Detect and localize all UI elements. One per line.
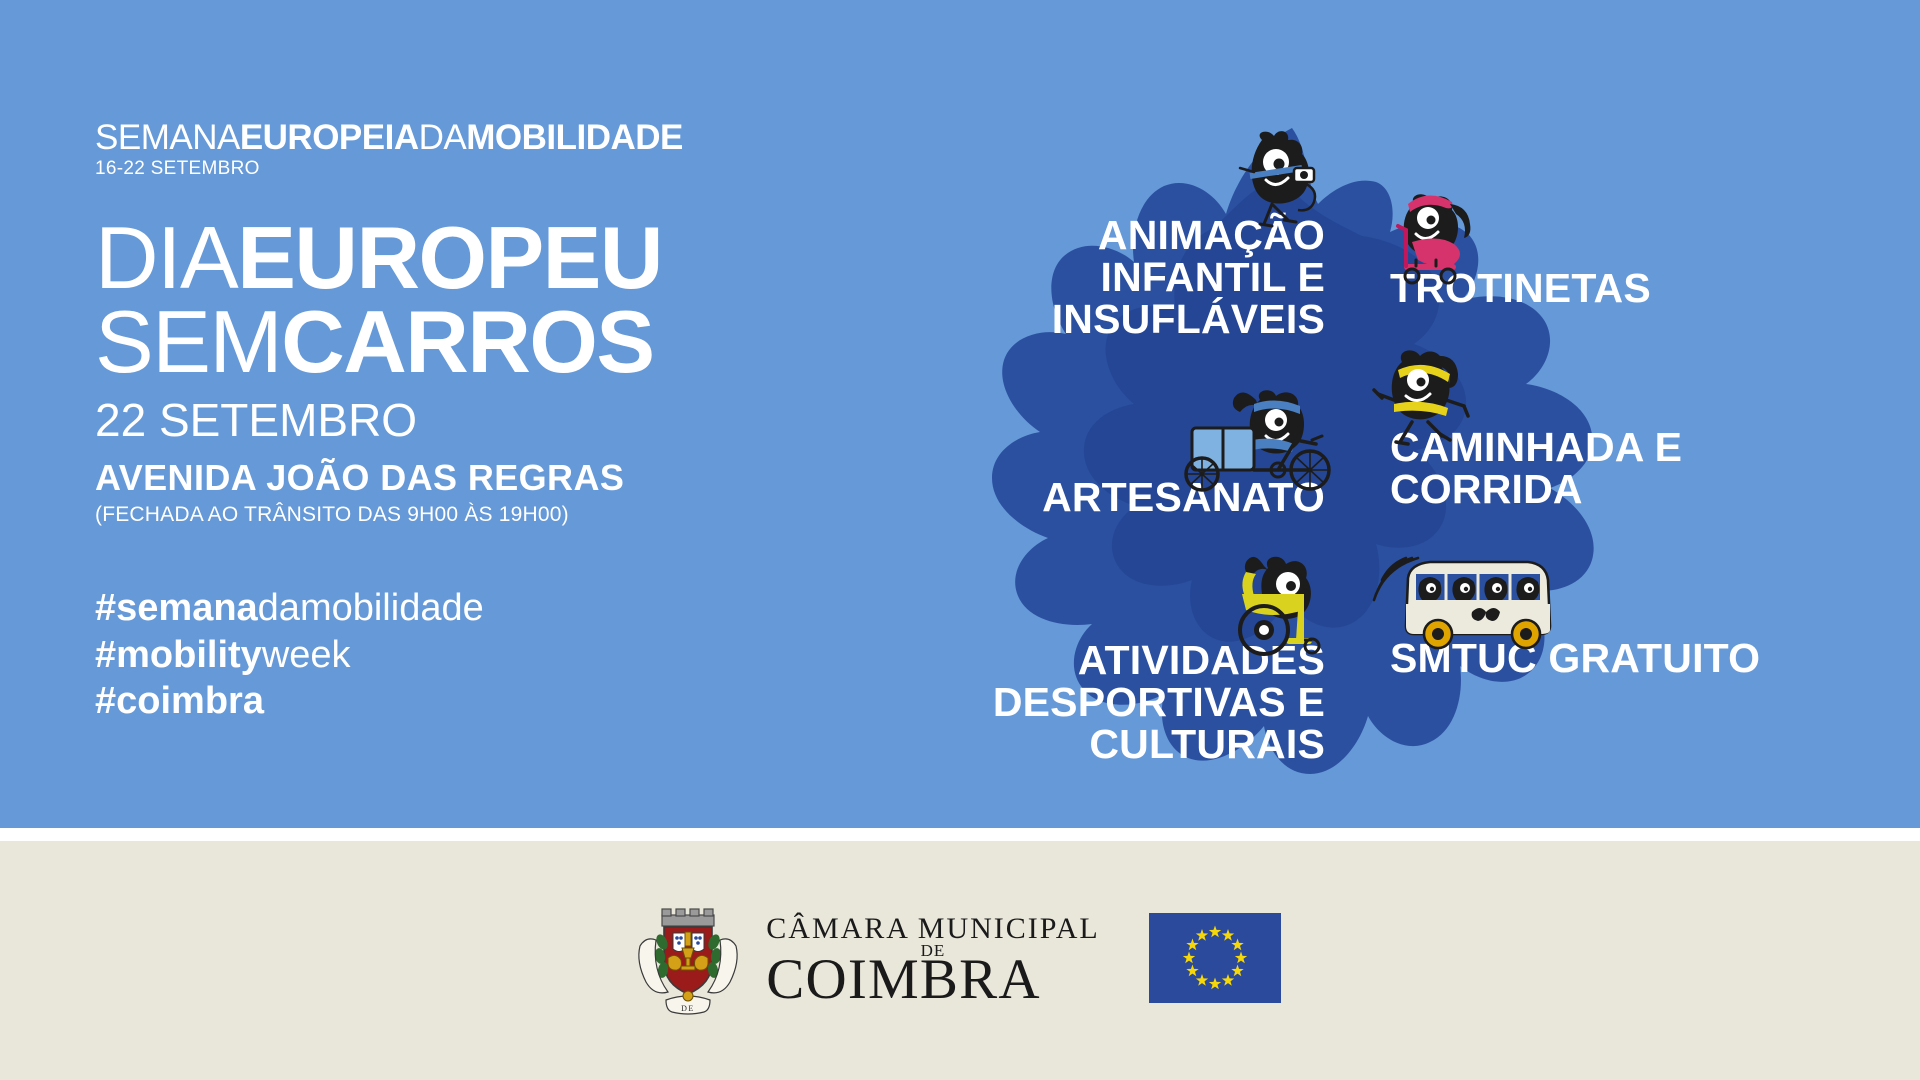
series-bold-2: MOBILIDADE (466, 118, 683, 157)
main-blue-panel: SEMANAEUROPEIADAMOBILIDADE 16-22 SETEMBR… (0, 0, 1920, 828)
svg-text:DE: DE (681, 1004, 695, 1013)
hashtag-light: week (262, 634, 351, 676)
hashtag-item: #mobilityweek (95, 632, 855, 678)
series-prefix: SEMANA (95, 118, 240, 157)
headline-line-1: DIAEUROPEU (95, 216, 855, 300)
poster-canvas: SEMANAEUROPEIADAMOBILIDADE 16-22 SETEMBR… (0, 0, 1920, 1080)
event-venue: AVENIDA JOÃO DAS REGRAS (95, 458, 855, 498)
council-name-bottom: COIMBRA (766, 954, 1099, 1006)
council-name-top: CÂMARA MUNICIPAL (766, 915, 1099, 943)
wheelchair-mascot-icon (1212, 548, 1332, 666)
bus-mascot-icon (1368, 538, 1558, 656)
headline-line-2: SEMCARROS (95, 300, 855, 384)
eu-flag-container (1142, 906, 1288, 1015)
hashtag-bold: #coimbra (95, 680, 264, 722)
campaign-series-dates: 16-22 SETEMBRO (95, 158, 855, 180)
coimbra-council-logo: DE CÂMARA MUNICIPAL DE COIMBRA (632, 902, 1099, 1020)
hashtag-item: #semanadamobilidade (95, 585, 855, 631)
hashtag-light: damobilidade (258, 587, 484, 629)
event-road-closure-note: (FECHADA AO TRÂNSITO DAS 9H00 ÀS 19H00) (95, 503, 855, 527)
headline-2-light: SEM (95, 292, 281, 391)
event-date: 22 SETEMBRO (95, 395, 855, 446)
footer-logo-row: DE CÂMARA MUNICIPAL DE COIMBRA (0, 841, 1920, 1080)
divider-stripe (0, 828, 1920, 841)
series-light-1: DA (419, 118, 467, 157)
left-text-column: SEMANAEUROPEIADAMOBILIDADE 16-22 SETEMBR… (95, 120, 855, 724)
runner-mascot-icon (1372, 340, 1476, 450)
campaign-series-title: SEMANAEUROPEIADAMOBILIDADE (95, 120, 855, 155)
hashtag-list: #semanadamobilidade #mobilityweek #coimb… (95, 585, 855, 724)
coimbra-coat-of-arms-icon: DE (632, 902, 744, 1020)
photographer-mascot-icon (1232, 128, 1342, 236)
council-wordmark: CÂMARA MUNICIPAL DE COIMBRA (766, 915, 1099, 1007)
hashtag-item: #coimbra (95, 678, 855, 724)
hashtag-bold: #semana (95, 587, 258, 629)
european-union-flag-icon (1149, 913, 1281, 1003)
hashtag-bold: #mobility (95, 634, 262, 676)
scooter-mascot-icon (1382, 182, 1490, 294)
headline-2-bold: CARROS (281, 292, 653, 391)
cargo-bike-mascot-icon (1178, 382, 1338, 494)
series-bold-1: EUROPEIA (240, 118, 419, 157)
